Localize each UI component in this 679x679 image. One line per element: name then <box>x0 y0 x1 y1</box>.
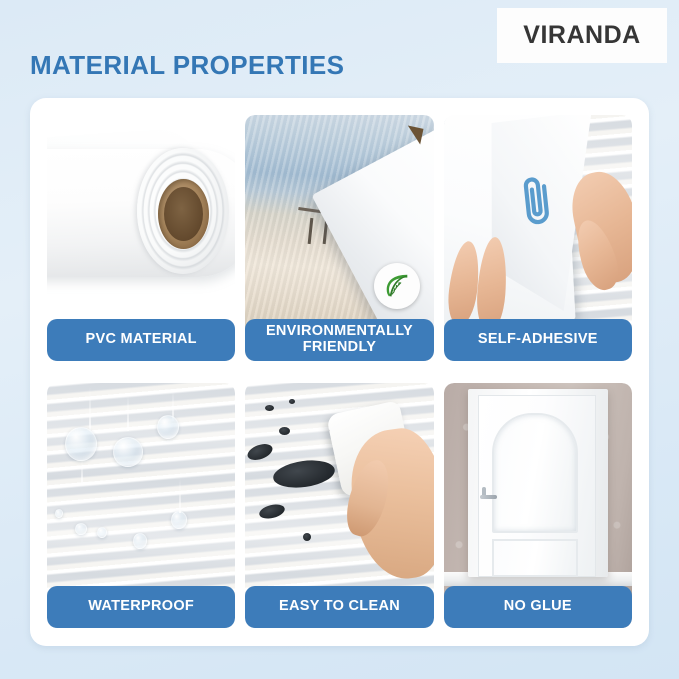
feature-label-self-adhesive: SELF-ADHESIVE <box>474 332 602 347</box>
paperclip-icon <box>512 171 563 240</box>
feature-label-bar: NO GLUE <box>444 586 632 628</box>
feature-card-environmentally-friendly[interactable]: ENVIRONMENTALLY FRIENDLY <box>245 115 433 361</box>
page-title: MATERIAL PROPERTIES <box>30 50 344 81</box>
feature-label-no-glue: NO GLUE <box>500 599 576 614</box>
feature-card-easy-to-clean[interactable]: EASY TO CLEAN <box>245 383 433 629</box>
feature-label-easy-to-clean: EASY TO CLEAN <box>275 599 404 614</box>
feature-label-pvc-material: PVC MATERIAL <box>82 332 201 347</box>
feature-label-waterproof: WATERPROOF <box>84 599 198 614</box>
feature-card-no-glue[interactable]: NO GLUE <box>444 383 632 629</box>
feature-label-line-1: ENVIRONMENTALLY <box>266 323 413 339</box>
leaf-icon <box>374 263 420 309</box>
brand-logo: VIRANDA <box>497 8 667 63</box>
feature-label-bar: ENVIRONMENTALLY FRIENDLY <box>245 319 433 361</box>
feature-label-bar: WATERPROOF <box>47 586 235 628</box>
feature-card-pvc-material[interactable]: PVC MATERIAL <box>47 115 235 361</box>
feature-label-line-2: FRIENDLY <box>303 339 377 355</box>
feature-label-environmentally-friendly: ENVIRONMENTALLY FRIENDLY <box>262 324 417 354</box>
feature-label-bar: EASY TO CLEAN <box>245 586 433 628</box>
features-panel: PVC MATERIAL <box>30 98 649 646</box>
feature-card-self-adhesive[interactable]: SELF-ADHESIVE <box>444 115 632 361</box>
brand-logo-text: VIRANDA <box>523 21 640 50</box>
feature-label-bar: PVC MATERIAL <box>47 319 235 361</box>
feature-card-waterproof[interactable]: WATERPROOF <box>47 383 235 629</box>
page-header: MATERIAL PROPERTIES VIRANDA <box>0 0 679 100</box>
features-grid: PVC MATERIAL <box>47 115 632 628</box>
feature-label-bar: SELF-ADHESIVE <box>444 319 632 361</box>
